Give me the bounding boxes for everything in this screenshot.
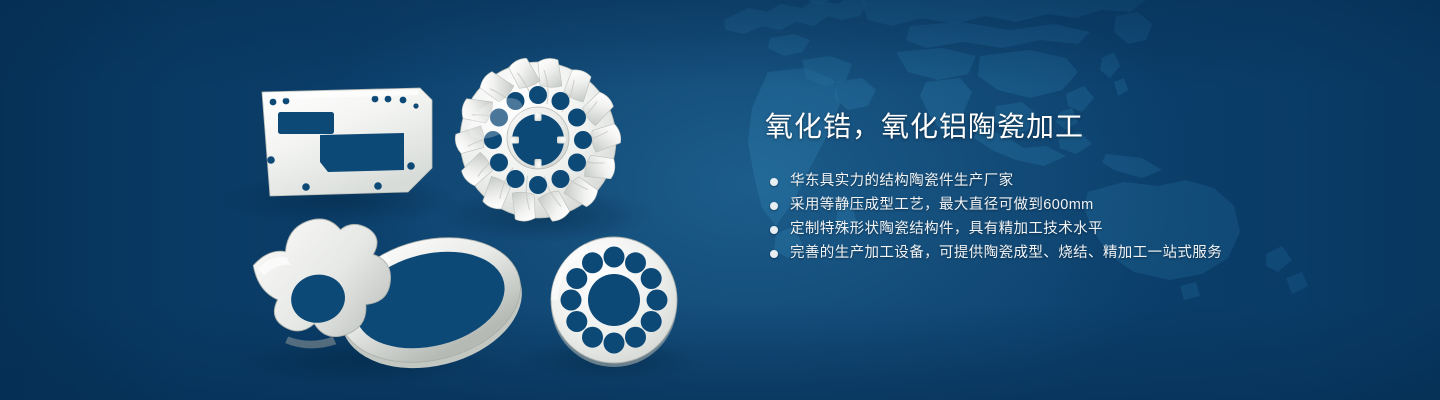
- list-item: 定制特殊形状陶瓷结构件，具有精加工技术水平: [765, 218, 1385, 241]
- feature-text: 定制特殊形状陶瓷结构件，具有精加工技术水平: [790, 218, 1103, 241]
- feature-text: 完善的生产加工设备，可提供陶瓷成型、烧结、精加工一站式服务: [790, 242, 1222, 265]
- ceramic-processing-banner: 氧化锆，氧化铝陶瓷加工 华东具实力的结构陶瓷件生产厂家 采用等静压成型工艺，最大…: [0, 0, 1440, 400]
- ceramic-machined-plate-shape: [262, 88, 432, 196]
- bullet-dot-icon: [770, 178, 778, 186]
- bullet-dot-icon: [770, 250, 778, 258]
- feature-list: 华东具实力的结构陶瓷件生产厂家 采用等静压成型工艺，最大直径可做到600mm 定…: [765, 170, 1385, 265]
- feature-text: 采用等静压成型工艺，最大直径可做到600mm: [790, 194, 1094, 217]
- list-item: 采用等静压成型工艺，最大直径可做到600mm: [765, 194, 1385, 217]
- product-photo-cluster: [0, 0, 760, 400]
- bullet-dot-icon: [770, 202, 778, 210]
- ceramic-perforated-disc-shape: [551, 237, 677, 367]
- feature-text: 华东具实力的结构陶瓷件生产厂家: [790, 170, 1014, 193]
- page-title: 氧化锆，氧化铝陶瓷加工: [765, 108, 1385, 146]
- bullet-dot-icon: [770, 226, 778, 234]
- list-item: 华东具实力的结构陶瓷件生产厂家: [765, 170, 1385, 193]
- banner-copy: 氧化锆，氧化铝陶瓷加工 华东具实力的结构陶瓷件生产厂家 采用等静压成型工艺，最大…: [765, 108, 1385, 266]
- list-item: 完善的生产加工设备，可提供陶瓷成型、烧结、精加工一站式服务: [765, 242, 1385, 265]
